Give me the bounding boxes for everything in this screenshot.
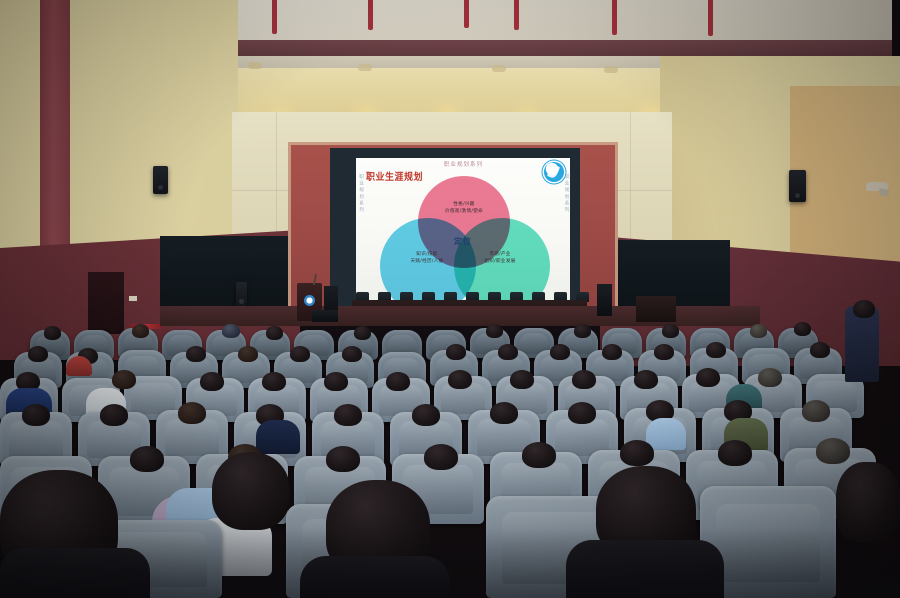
audience-head [810,342,830,358]
venn-label-right-line2: 组织/职业发展 [458,259,542,266]
audience-body [646,418,686,450]
projected-slide: 职业规划系列 职业生涯规划 职业规划系列 职业规划系列 性格/兴趣 价值观/激情… [356,158,570,302]
floor-speaker [597,284,612,316]
venn-label-left-line2: 天赋/经历/人脉 [386,259,468,266]
venn-diagram: 性格/兴趣 价值观/激情/使命 知识/技能 天赋/经历/人脉 市场/产业 组织/… [374,176,550,300]
ceiling-fixture [248,62,262,69]
security-camera-icon [866,182,888,191]
ceiling-accent-stripe [612,0,617,35]
wall-speaker [236,282,247,308]
audience-head [750,324,767,338]
venn-label-left: 知识/技能 天赋/经历/人脉 [386,252,468,266]
audience-head [178,402,206,424]
venn-label-top-line2: 价值观/激情/使命 [428,209,500,216]
audience-head [446,344,466,360]
audience-head [486,324,503,338]
audience-head [266,326,283,340]
left-upper-wall [0,0,238,250]
audience-head [550,344,570,360]
right-side-wall [790,86,900,266]
wall-speaker [789,170,806,202]
audience-head [100,404,128,426]
audience-head [696,368,720,387]
side-exit-door[interactable] [88,272,124,334]
audience-head [334,404,362,426]
venn-label-left-line1: 知识/技能 [386,252,468,259]
audience-head [28,346,48,362]
audience-head [424,444,458,470]
ceiling-accent-stripe [514,0,519,30]
audience-head [654,344,674,360]
audience-head [574,324,591,338]
wall-speaker [153,166,168,194]
audience-head [222,324,240,338]
audience-head [448,370,472,389]
acoustic-panel [160,236,288,310]
slide-side-label-right: 职业规划系列 [563,174,568,214]
venn-label-right: 市场/产业 组织/职业发展 [458,252,542,266]
ceiling-accent-stripe [272,0,277,34]
auditorium-photo: 职业规划系列 职业生涯规划 职业规划系列 职业规划系列 性格/兴趣 价值观/激情… [0,0,900,598]
audience-body [256,420,300,454]
audience-head [836,462,900,542]
audience-head [802,400,830,422]
audience-head [794,322,811,336]
standing-person-head [853,300,875,318]
ceiling-fixture [358,64,372,71]
door-sign [129,296,137,301]
audience-head [816,438,850,464]
audience-head [326,446,360,472]
audience-head [354,326,371,340]
ceiling-accent-stripe [708,0,713,36]
venn-center-label: 定位 [434,236,492,248]
audience-head [132,324,149,338]
audience-head [342,346,362,362]
audience-head [758,368,782,387]
audience-head [238,346,258,362]
audience-head [112,370,136,389]
audience-head [186,346,206,362]
ceiling-accent-stripe [368,0,373,30]
av-equipment-rack [636,296,676,322]
audience-head [662,324,679,338]
audience-head [498,344,518,360]
audience-body [300,556,450,598]
audience-body [566,540,724,598]
audience-head [412,404,440,426]
ceiling-fixture [604,66,618,73]
audience-head [22,404,50,426]
speaker-base [312,310,338,322]
ceiling-fixture [492,65,506,72]
venn-label-top-line1: 性格/兴趣 [428,202,500,209]
audience-head [386,372,410,391]
audience-head [572,370,596,389]
venn-label-top: 性格/兴趣 价值观/激情/使命 [428,202,500,216]
slide-kicker: 职业规划系列 [444,160,483,168]
audience-head [706,342,726,358]
ceiling-shadow-band [232,40,892,56]
audience-head [290,346,310,362]
institution-emblem-icon [304,295,315,306]
audience-head [718,440,752,466]
audience-head [212,452,290,530]
audience-head [602,344,622,360]
audience-head [490,402,518,424]
ceiling-accent-stripe [464,0,469,28]
audience-head [130,446,164,472]
venn-label-right-line1: 市场/产业 [458,252,542,259]
audience-head [634,370,658,389]
left-pillar [40,0,70,268]
audience-head [324,372,348,391]
audience-head [522,442,556,468]
audience-head [262,372,286,391]
audience-body [0,548,150,598]
audience-head [568,402,596,424]
audience-head [200,372,224,391]
audience-head [510,370,534,389]
audience-body [66,356,92,376]
audience-head [44,326,61,340]
audience-head [620,440,654,466]
slide-side-label-left: 职业规划系列 [358,174,363,214]
